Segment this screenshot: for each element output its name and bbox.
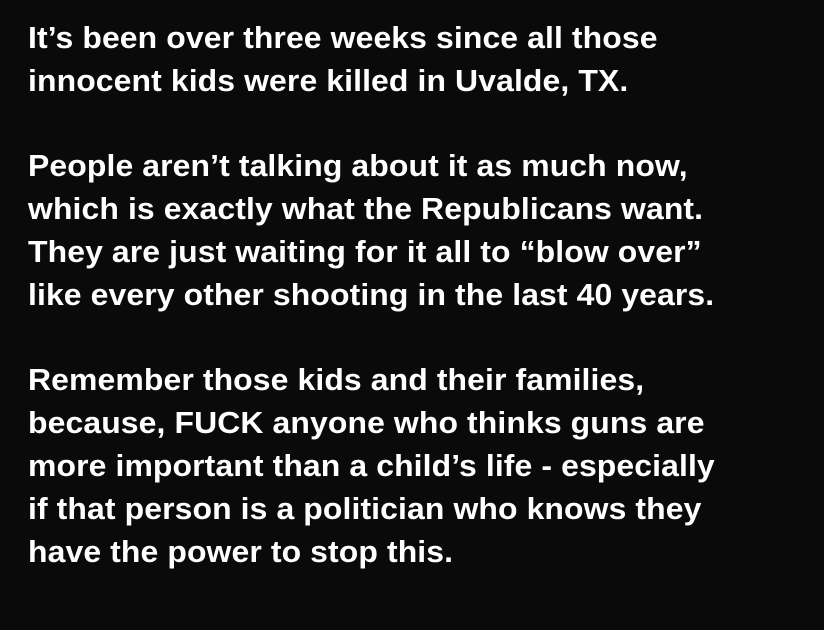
post-text-body: It’s been over three weeks since all tho… bbox=[28, 16, 803, 573]
text-line: if that person is a politician who knows… bbox=[28, 487, 824, 530]
text-line: which is exactly what the Republicans wa… bbox=[28, 187, 824, 230]
text-line: have the power to stop this. bbox=[28, 530, 824, 573]
text-line: Remember those kids and their families, bbox=[28, 358, 824, 401]
text-line: People aren’t talking about it as much n… bbox=[28, 144, 824, 187]
text-line: like every other shooting in the last 40… bbox=[28, 273, 824, 316]
text-line: innocent kids were killed in Uvalde, TX. bbox=[28, 59, 824, 102]
paragraph-2: People aren’t talking about it as much n… bbox=[28, 144, 803, 316]
text-line: It’s been over three weeks since all tho… bbox=[28, 16, 824, 59]
text-line: They are just waiting for it all to “blo… bbox=[28, 230, 824, 273]
paragraph-1: It’s been over three weeks since all tho… bbox=[28, 16, 803, 102]
text-line: more important than a child’s life - esp… bbox=[28, 444, 824, 487]
paragraph-3: Remember those kids and their families, … bbox=[28, 358, 803, 573]
text-post-image: It’s been over three weeks since all tho… bbox=[0, 0, 824, 630]
text-line: because, FUCK anyone who thinks guns are bbox=[28, 401, 824, 444]
